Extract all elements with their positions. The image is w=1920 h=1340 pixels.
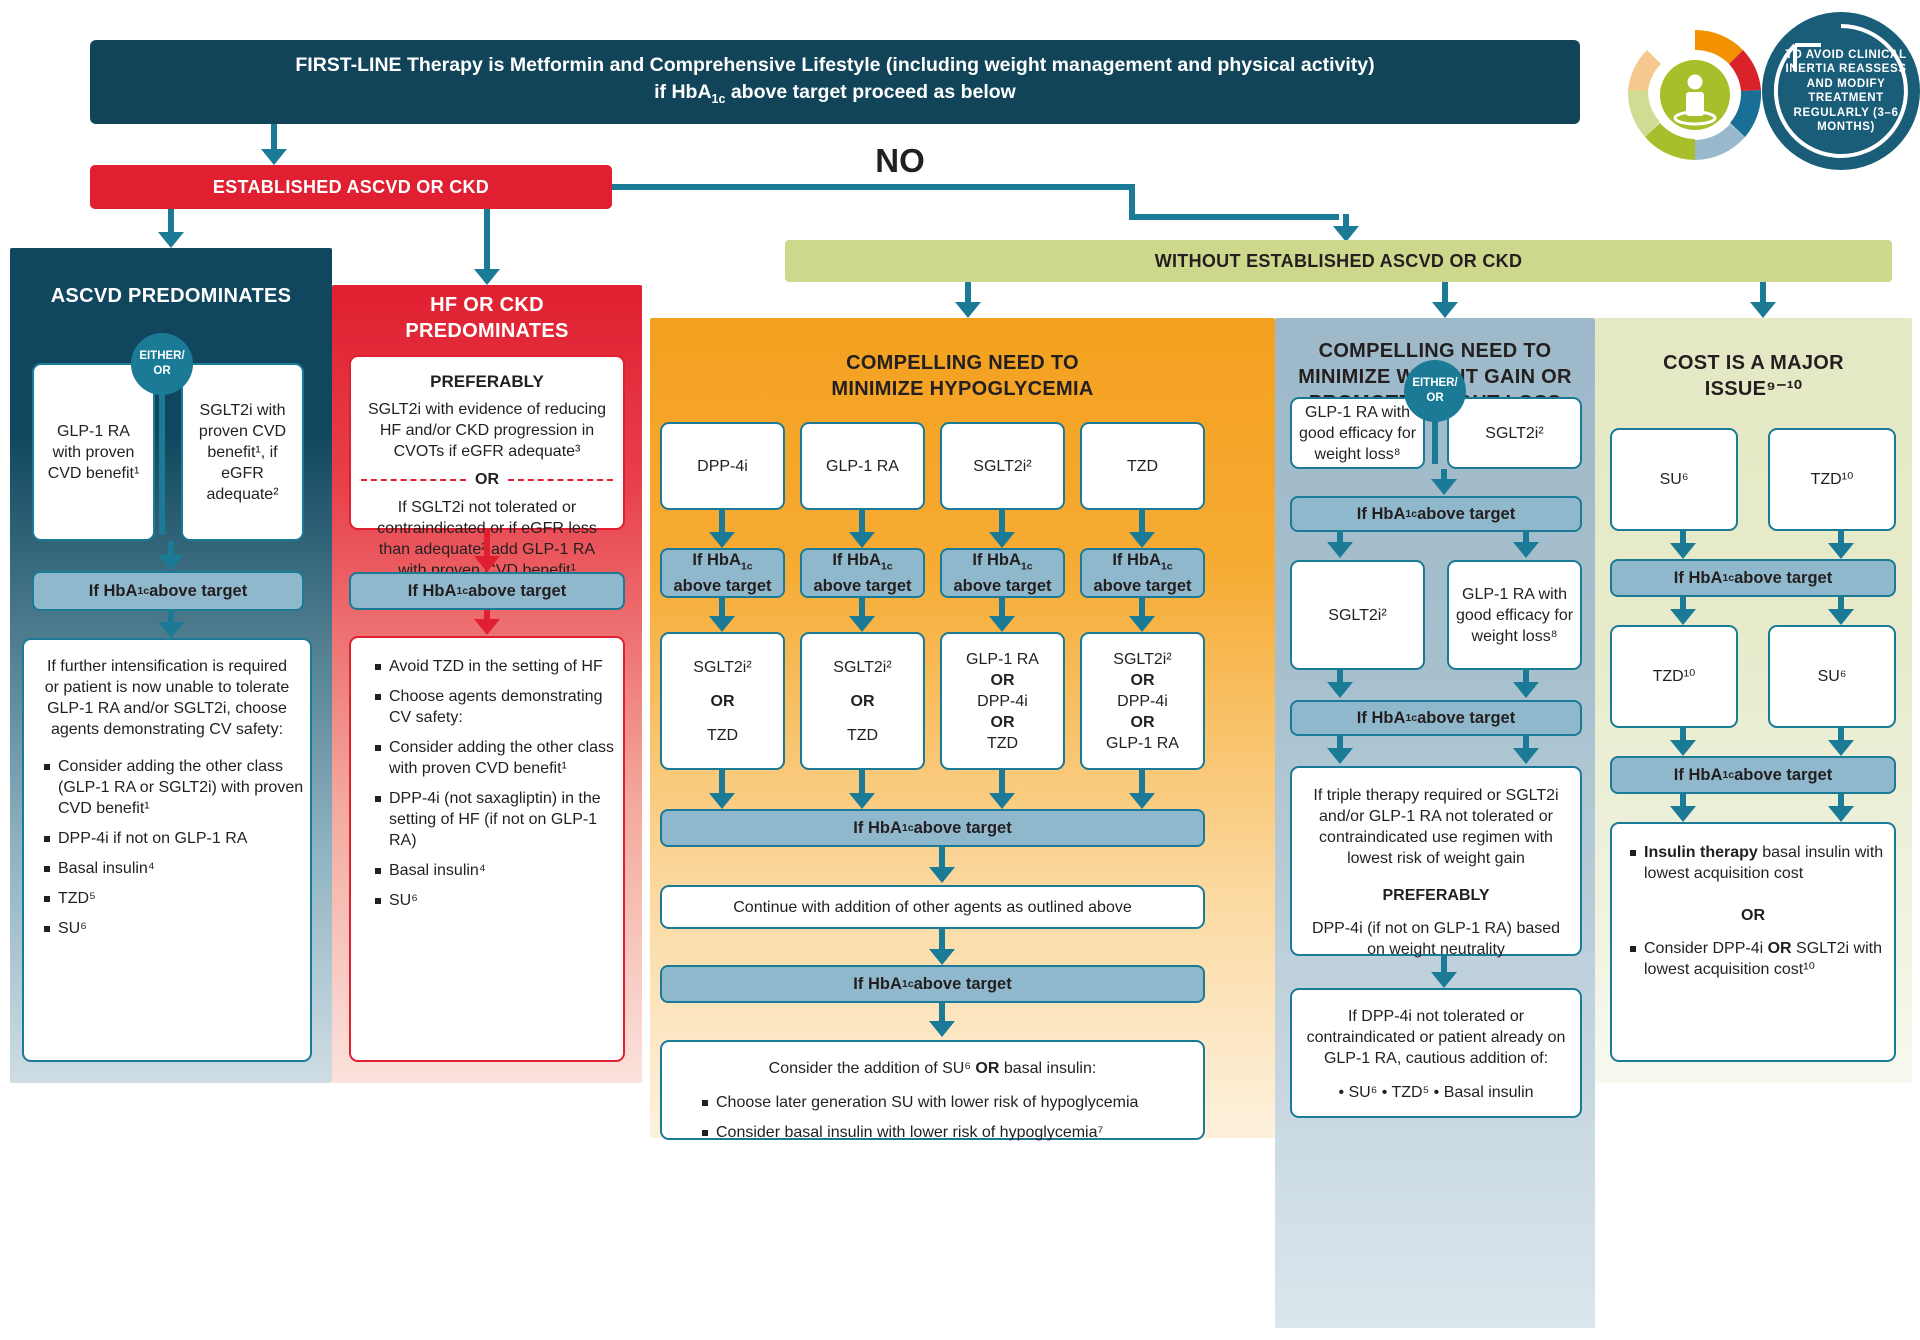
either-label: EITHER/ (1412, 376, 1457, 391)
ascvd-either-or-stem (159, 380, 165, 535)
weight-triple-text: If triple therapy required or SGLT2i and… (1292, 785, 1580, 869)
hf-preferably-text: SGLT2i with evidence of reducing HF and/… (351, 399, 623, 462)
hypo-track4-first[interactable]: TZD (1080, 422, 1205, 510)
first-line-title-line2: if HbA1c above target proceed as below (654, 79, 1016, 113)
hf-ckd-bullets-box[interactable]: Avoid TZD in the setting of HF Choose ag… (349, 636, 625, 1062)
established-ascvd-ckd-bar: ESTABLISHED ASCVD OR CKD (90, 165, 612, 209)
ascvd-either-or-badge: EITHER/ OR (131, 333, 193, 395)
either-label: EITHER/ (139, 349, 184, 364)
ascvd-intensify-text: If further intensification is required o… (28, 656, 306, 740)
connector-hf-to-hba1 (474, 530, 500, 572)
list-item: Consider adding the other class with pro… (375, 737, 619, 779)
cost-row1-su[interactable]: SU⁶ (1610, 428, 1738, 531)
weight-preferably-heading: PREFERABLY (1371, 885, 1502, 906)
cost-final-bullets: Insulin therapy basal insulin with lowes… (1612, 842, 1894, 893)
weight-triple-therapy-box[interactable]: If triple therapy required or SGLT2i and… (1290, 766, 1582, 956)
list-item: TZD⁵ (44, 888, 306, 909)
connector-hypo-t3-a (989, 510, 1015, 548)
circular-arrow-icon (1762, 12, 1920, 170)
cost-title: COST IS A MAJOR ISSUE⁹⁻¹⁰ (1595, 350, 1912, 402)
connector-ascvd-to-hba1 (158, 541, 184, 571)
cost-hba1c-gate-2: If HbA1c above target (1610, 756, 1896, 794)
connector-hypo-t4-a (1129, 510, 1155, 548)
connector-weight-to-hba1 (1431, 469, 1457, 495)
list-item: Basal insulin⁴ (375, 860, 619, 881)
connector-cost-g1-left (1670, 597, 1696, 625)
connector-hypo-t2-c (849, 770, 875, 809)
connector-weight-hba2-right (1513, 736, 1539, 764)
hypo-hba1c-gate-2: If HbA1c above target (660, 965, 1205, 1003)
connector-without-to-hypo (955, 282, 981, 318)
weight-hba1c-gate-2: If HbA1c above target (1290, 700, 1582, 736)
connector-hypo-to-continue (929, 847, 955, 883)
list-item: Consider basal insulin with lower risk o… (702, 1122, 1203, 1143)
without-established-bar: WITHOUT ESTABLISHED ASCVD OR CKD (785, 240, 1892, 282)
list-item: DPP-4i (not saxagliptin) in the setting … (375, 788, 619, 851)
hf-or-separator: OR (351, 469, 623, 490)
no-branch-label: NO (840, 142, 960, 180)
list-item: Basal insulin⁴ (44, 858, 306, 879)
hypo-final-bullets: Choose later generation SU with lower ri… (662, 1092, 1203, 1152)
hypo-track4-hba: If HbA1c above target (1080, 548, 1205, 598)
hypo-track2-second[interactable]: SGLT2i² OR TZD (800, 632, 925, 770)
connector-weight-left-to-hba2 (1327, 670, 1353, 698)
hypo-track1-second[interactable]: SGLT2i² OR TZD (660, 632, 785, 770)
hypo-track2-hba: If HbA1c above target (800, 548, 925, 598)
connector-hypo-t4-b (1129, 598, 1155, 632)
cost-final-bullets-2: Consider DPP-4i OR SGLT2i with lowest ac… (1612, 938, 1894, 989)
cost-hba1c-gate-1: If HbA1c above target (1610, 559, 1896, 597)
hypo-track3-first[interactable]: SGLT2i² (940, 422, 1065, 510)
hypo-track4-second[interactable]: SGLT2i² OR DPP-4i OR GLP-1 RA (1080, 632, 1205, 770)
list-item: Insulin therapy basal insulin with lowes… (1630, 842, 1894, 884)
cost-row2-tzd[interactable]: TZD¹⁰ (1610, 625, 1738, 728)
hypo-continue-box[interactable]: Continue with addition of other agents a… (660, 885, 1205, 929)
connector-hypo-t1-b (709, 598, 735, 632)
connector-to-without-bar (1333, 214, 1359, 242)
connector-weight-right-to-hba2 (1513, 670, 1539, 698)
connector-no-vertical (1129, 184, 1135, 214)
hf-preferably-heading: PREFERABLY (430, 371, 544, 392)
connector-cost-g2-left (1670, 794, 1696, 822)
hf-hba1c-gate: If HbA1c above target (349, 572, 625, 610)
hf-bullet-list: Avoid TZD in the setting of HF Choose ag… (355, 656, 619, 920)
ascvd-option-sglt2i[interactable]: SGLT2i with proven CVD benefit¹, if eGFR… (181, 363, 304, 541)
weight-preferably-text: DPP-4i (if not on GLP-1 RA) based on wei… (1292, 918, 1580, 960)
connector-cost-r2-left (1670, 728, 1696, 756)
ascvd-option-glp1[interactable]: GLP-1 RA with proven CVD benefit¹ (32, 363, 155, 541)
weight-final-list: • SU⁶ • TZD⁵ • Basal insulin (1326, 1082, 1545, 1103)
list-item: Avoid TZD in the setting of HF (375, 656, 619, 677)
hypo-track3-second[interactable]: GLP-1 RA OR DPP-4i OR TZD (940, 632, 1065, 770)
list-item: DPP-4i if not on GLP-1 RA (44, 828, 306, 849)
weight-final-box[interactable]: If DPP-4i not tolerated or contraindicat… (1290, 988, 1582, 1118)
connector-header-to-established (261, 124, 287, 165)
ascvd-intensification-box[interactable]: If further intensification is required o… (22, 638, 312, 1062)
hypo-track3-hba: If HbA1c above target (940, 548, 1065, 598)
connector-hypo-t2-b (849, 598, 875, 632)
connector-no-horizontal (612, 184, 1135, 190)
weight-hba1c-gate-1: If HbA1c above target (1290, 496, 1582, 532)
weight-option-glp1[interactable]: GLP-1 RA with good efficacy for weight l… (1290, 397, 1425, 469)
cost-final-box[interactable]: Insulin therapy basal insulin with lowes… (1610, 822, 1896, 1062)
ascvd-hba1c-gate: If HbA1c above target (32, 571, 304, 611)
connector-established-to-ascvd (158, 209, 184, 248)
list-item: Choose agents demonstrating CV safety: (375, 686, 619, 728)
list-item: Consider DPP-4i OR SGLT2i with lowest ac… (1630, 938, 1894, 980)
connector-cost-g1-right (1828, 597, 1854, 625)
weight-second-glp1[interactable]: GLP-1 RA with good efficacy for weight l… (1447, 560, 1582, 670)
connector-without-to-weight (1432, 282, 1458, 318)
connector-cost-r1-left (1670, 531, 1696, 559)
connector-weight-hba1-left (1327, 532, 1353, 558)
hf-ckd-title: HF OR CKD PREDOMINATES (332, 292, 642, 344)
cost-row2-su[interactable]: SU⁶ (1768, 625, 1896, 728)
connector-hypo-to-final (929, 1003, 955, 1037)
hypo-hba1c-gate-1: If HbA1c above target (660, 809, 1205, 847)
ascvd-title: ASCVD PREDOMINATES (10, 283, 332, 309)
list-item: SU⁶ (44, 918, 306, 939)
connector-established-to-hf (474, 209, 500, 285)
cost-row1-tzd[interactable]: TZD¹⁰ (1768, 428, 1896, 531)
list-item: Consider adding the other class (GLP-1 R… (44, 756, 306, 819)
hypo-title: COMPELLING NEED TO MINIMIZE HYPOGLYCEMIA (650, 350, 1275, 402)
connector-hypo-t4-c (1129, 770, 1155, 809)
connector-ascvd-to-intensify (158, 611, 184, 638)
hypo-track2-first[interactable]: GLP-1 RA (800, 422, 925, 510)
connector-weight-to-final (1431, 956, 1457, 988)
hypo-track1-first[interactable]: DPP-4i (660, 422, 785, 510)
connector-hypo-t2-a (849, 510, 875, 548)
ascvd-bullet-list: Consider adding the other class (GLP-1 R… (28, 756, 306, 948)
or-label: OR (153, 364, 170, 379)
connector-weight-hba1-right (1513, 532, 1539, 558)
connector-hypo-to-hba2 (929, 929, 955, 965)
reassess-badge: TO AVOID CLINICAL INERTIA REASSESS AND M… (1762, 12, 1920, 170)
hypo-track1-hba: If HbA1c above target (660, 548, 785, 598)
connector-cost-r1-right (1828, 531, 1854, 559)
connector-hypo-t3-b (989, 598, 1015, 632)
weight-either-or-badge: EITHER/ OR (1404, 360, 1466, 422)
connector-no-horizontal2 (1129, 214, 1339, 220)
first-line-therapy-banner: FIRST-LINE Therapy is Metformin and Comp… (90, 40, 1580, 124)
or-label: OR (1426, 391, 1443, 406)
connector-hypo-t3-c (989, 770, 1015, 809)
connector-hypo-t1-a (709, 510, 735, 548)
connector-hypo-t1-c (709, 770, 735, 809)
patient-centered-cycle-logo (1620, 22, 1770, 172)
hypo-final-box[interactable]: Consider the addition of SU⁶ OR basal in… (660, 1040, 1205, 1140)
first-line-title-line1: FIRST-LINE Therapy is Metformin and Comp… (295, 52, 1374, 79)
hypo-consider-heading: Consider the addition of SU⁶ OR basal in… (757, 1058, 1109, 1079)
weight-final-text: If DPP-4i not tolerated or contraindicat… (1292, 1006, 1580, 1069)
weight-option-sglt2i[interactable]: SGLT2i² (1447, 397, 1582, 469)
list-item: SU⁶ (375, 890, 619, 911)
connector-without-to-cost (1750, 282, 1776, 318)
connector-cost-r2-right (1828, 728, 1854, 756)
weight-second-sglt2i[interactable]: SGLT2i² (1290, 560, 1425, 670)
cost-or-label: OR (1729, 905, 1777, 926)
connector-hf-to-bullets (474, 610, 500, 635)
connector-weight-hba2-left (1327, 736, 1353, 764)
list-item: Choose later generation SU with lower ri… (702, 1092, 1203, 1113)
connector-cost-g2-right (1828, 794, 1854, 822)
hf-ckd-preferably-box[interactable]: PREFERABLY SGLT2i with evidence of reduc… (349, 355, 625, 530)
